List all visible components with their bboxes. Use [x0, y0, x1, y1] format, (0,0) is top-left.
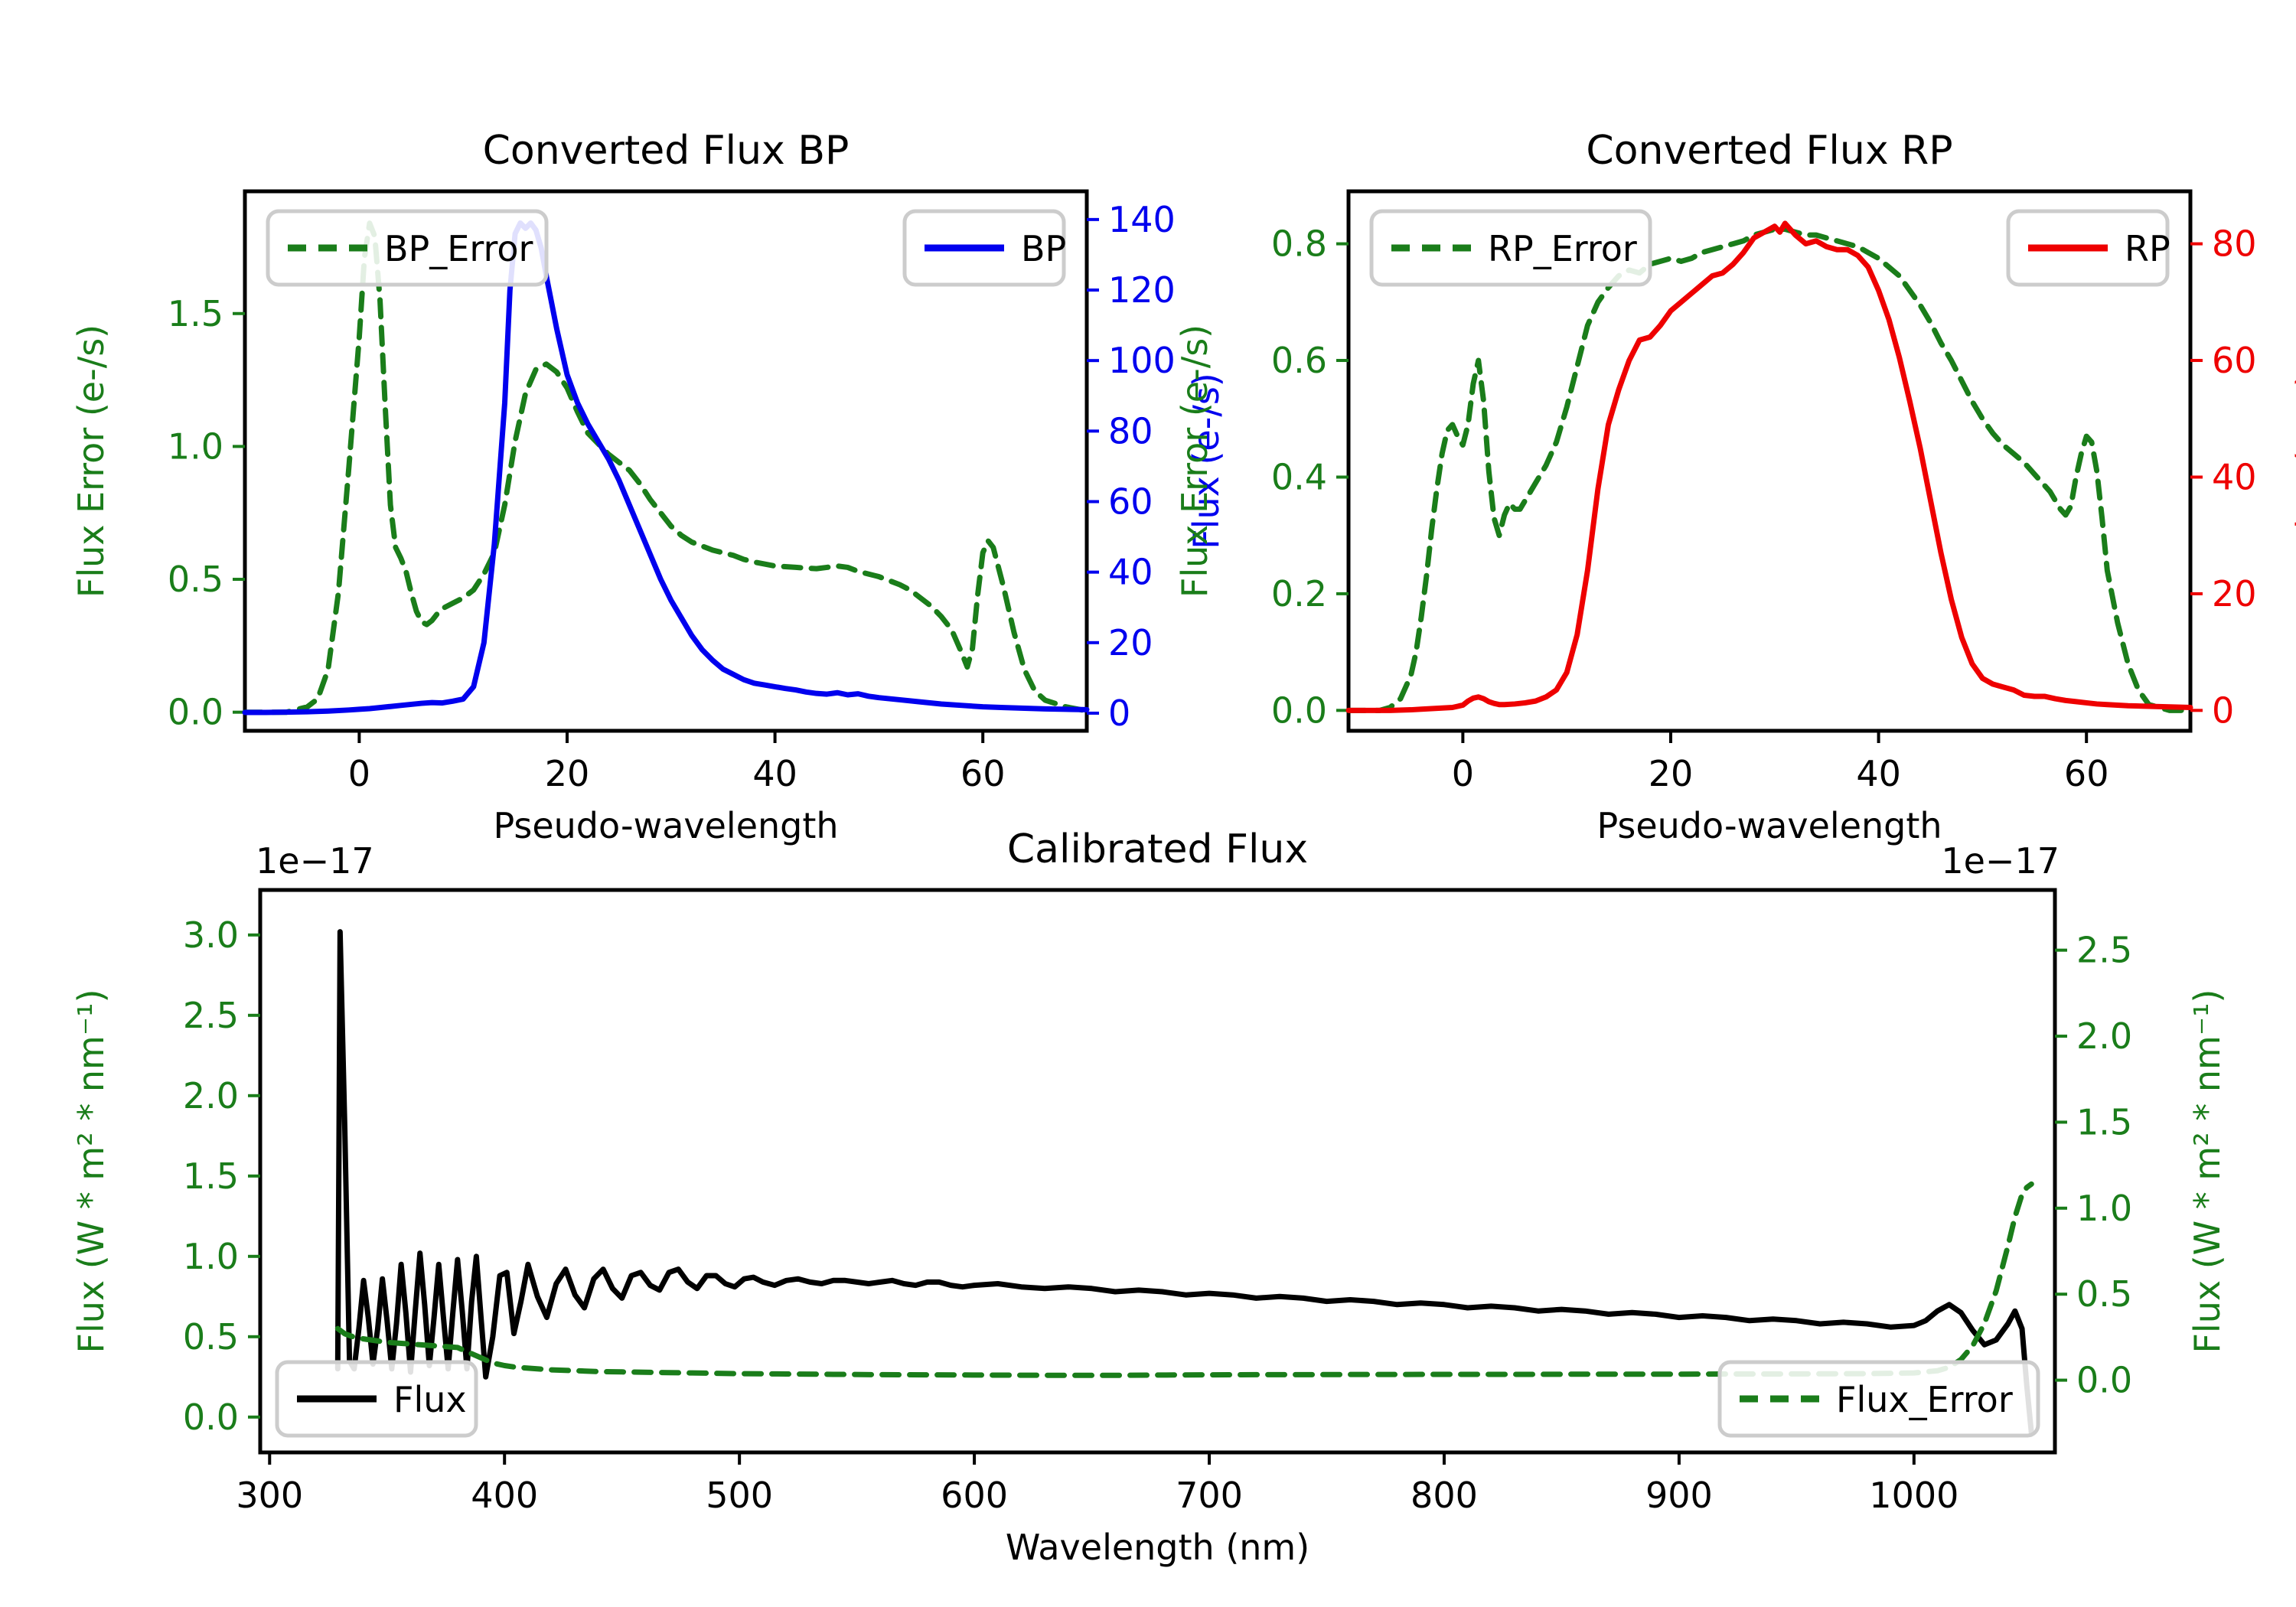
legend-label-flux: Flux — [393, 1379, 467, 1420]
series-flux — [338, 932, 2031, 1433]
x-axis-label: Pseudo-wavelength — [1596, 805, 1942, 846]
y-tick-label-right: 2.5 — [2076, 930, 2132, 971]
legend-label-rp: RP — [2125, 228, 2170, 269]
legend-label-bp: BP — [1021, 228, 1066, 269]
legend-flux: Flux — [277, 1362, 476, 1436]
y-tick-label-left: 0.5 — [183, 1316, 239, 1358]
legend-flux_error: Flux_Error — [1720, 1362, 2038, 1436]
y-tick-label-left: 0.8 — [1271, 223, 1327, 265]
x-tick-label: 700 — [1176, 1475, 1243, 1516]
figure-canvas: Converted Flux BP0204060Pseudo-wavelengt… — [0, 0, 2296, 1607]
y-tick-label-left: 1.5 — [168, 293, 223, 334]
legend-label-rp_error: RP_Error — [1488, 228, 1637, 269]
y-tick-label-right: 20 — [1108, 622, 1153, 663]
x-tick-label: 800 — [1411, 1475, 1478, 1516]
y-tick-label-right: 0.5 — [2076, 1273, 2132, 1315]
x-tick-label: 0 — [1452, 753, 1474, 794]
legend-bp_error: BP_Error — [268, 211, 546, 285]
series-rp — [1349, 223, 2190, 710]
y-tick-label-right: 1.5 — [2076, 1101, 2132, 1143]
x-tick-label: 40 — [752, 753, 797, 794]
x-tick-label: 600 — [941, 1475, 1008, 1516]
y-tick-label-right: 2.0 — [2076, 1015, 2132, 1057]
y-tick-label-right: 1.0 — [2076, 1188, 2132, 1229]
series-bp — [245, 223, 1087, 712]
y-tick-label-left: 2.5 — [183, 995, 239, 1036]
y-tick-label-left: 1.5 — [183, 1156, 239, 1197]
y-tick-label-right: 40 — [2212, 456, 2257, 497]
x-tick-label: 20 — [545, 753, 590, 794]
y-tick-label-right: 0 — [1108, 693, 1130, 734]
y-tick-label-left: 0.0 — [168, 692, 223, 733]
y-tick-label-right: 60 — [2212, 340, 2257, 381]
x-tick-label: 40 — [1856, 753, 1901, 794]
y-tick-label-left: 0.0 — [183, 1397, 239, 1438]
x-tick-label: 60 — [960, 753, 1006, 794]
panel-calibrated_flux: Calibrated Flux3004005006007008009001000… — [70, 826, 2228, 1568]
y-tick-label-left: 0.2 — [1271, 573, 1327, 614]
panel-title-converted_flux_rp: Converted Flux RP — [1586, 128, 1952, 174]
x-tick-label: 900 — [1645, 1475, 1713, 1516]
panel-converted_flux_bp: Converted Flux BP0204060Pseudo-wavelengt… — [70, 128, 1227, 846]
y-tick-label-left: 0.6 — [1271, 340, 1327, 381]
y-tick-label-right: 80 — [2212, 223, 2257, 265]
y-tick-label-left: 3.0 — [183, 914, 239, 956]
x-tick-label: 60 — [2064, 753, 2109, 794]
panel-title-converted_flux_bp: Converted Flux BP — [483, 128, 850, 174]
y-tick-label-right: 40 — [1108, 552, 1153, 593]
panel-converted_flux_rp: Converted Flux RP0204060Pseudo-wavelengt… — [1174, 128, 2296, 846]
legend-label-flux_error: Flux_Error — [1836, 1379, 2013, 1420]
x-tick-label: 300 — [236, 1475, 303, 1516]
legend-rp: RP — [2008, 211, 2170, 285]
y-tick-label-right: 140 — [1108, 199, 1176, 240]
y-axis-label-right: Flux (W * m² * nm⁻¹) — [2187, 989, 2228, 1353]
x-axis-label: Wavelength (nm) — [1006, 1527, 1309, 1568]
x-tick-label: 500 — [706, 1475, 773, 1516]
y-axis-label-left: Flux Error (e-/s) — [1174, 324, 1215, 598]
panel-title-calibrated_flux: Calibrated Flux — [1007, 826, 1308, 872]
y-axis-label-right: Flux (e-/s) — [2289, 373, 2296, 549]
matplotlib-figure: Converted Flux BP0204060Pseudo-wavelengt… — [0, 0, 2296, 1607]
y-tick-label-right: 120 — [1108, 269, 1176, 311]
offset-text-right: 1e−17 — [1941, 840, 2060, 882]
x-axis-label: Pseudo-wavelength — [493, 805, 838, 846]
y-axis-label-left: Flux Error (e-/s) — [70, 324, 112, 598]
legend-label-bp_error: BP_Error — [384, 228, 533, 269]
legend-rp_error: RP_Error — [1371, 211, 1650, 285]
x-tick-label: 1000 — [1869, 1475, 1958, 1516]
series-rp_error — [1349, 230, 2190, 711]
y-tick-label-left: 1.0 — [168, 425, 223, 467]
y-tick-label-left: 0.4 — [1271, 456, 1327, 497]
y-tick-label-left: 2.0 — [183, 1075, 239, 1116]
legend-bp: BP — [905, 211, 1066, 285]
y-tick-label-right: 80 — [1108, 410, 1153, 451]
x-tick-label: 400 — [471, 1475, 538, 1516]
y-tick-label-left: 0.0 — [1271, 689, 1327, 731]
x-tick-label: 20 — [1649, 753, 1694, 794]
x-tick-label: 0 — [348, 753, 370, 794]
y-tick-label-right: 0.0 — [2076, 1360, 2132, 1401]
offset-text-left: 1e−17 — [256, 840, 374, 882]
y-axis-label-left: Flux (W * m² * nm⁻¹) — [70, 989, 112, 1353]
y-tick-label-left: 0.5 — [168, 559, 223, 600]
y-tick-label-left: 1.0 — [183, 1236, 239, 1277]
y-tick-label-right: 20 — [2212, 573, 2257, 614]
y-tick-label-right: 100 — [1108, 340, 1176, 381]
y-tick-label-right: 0 — [2212, 689, 2234, 731]
y-tick-label-right: 60 — [1108, 481, 1153, 522]
series-bp_error — [245, 223, 1087, 712]
